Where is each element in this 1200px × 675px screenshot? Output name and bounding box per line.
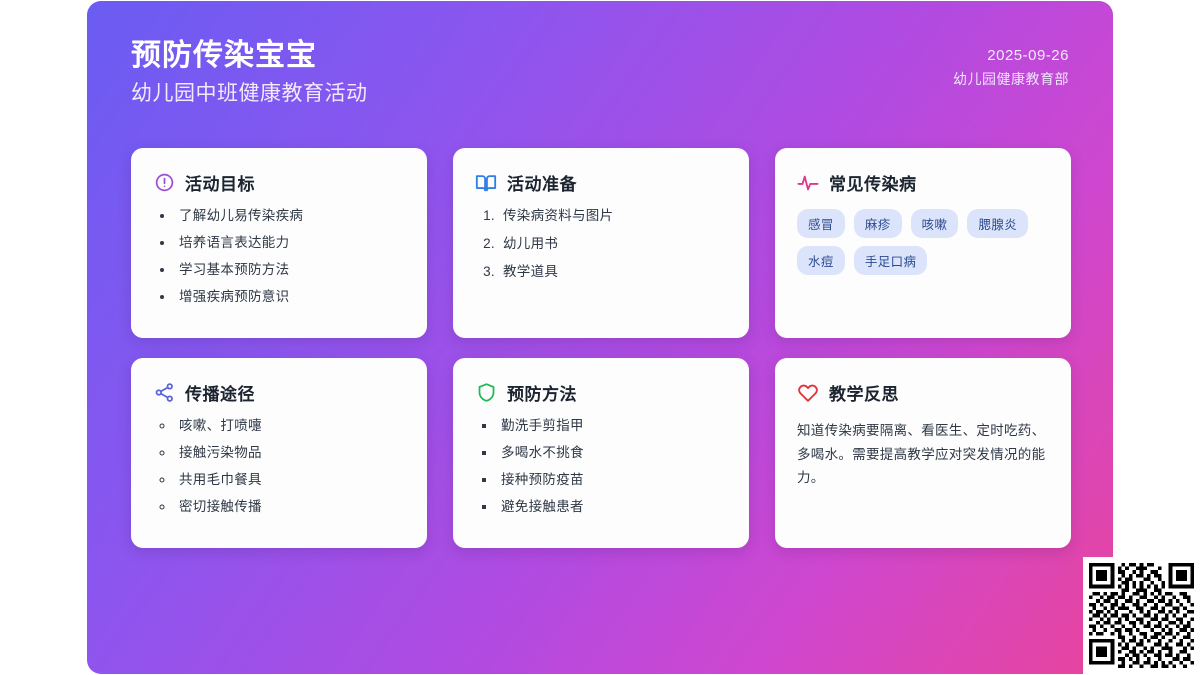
share-network-icon bbox=[153, 382, 175, 404]
status-badge: 水痘 bbox=[797, 246, 845, 275]
card-title: 教学反思 bbox=[829, 380, 899, 405]
header-meta-group: 2025-09-26 幼儿园健康教育部 bbox=[953, 37, 1069, 90]
card-header: 传播途径 bbox=[153, 380, 405, 405]
disease-tag-list: 感冒 麻疹 咳嗽 腮腺炎 水痘 手足口病 bbox=[797, 209, 1049, 275]
list-item: 教学道具 bbox=[499, 265, 727, 280]
list-item: 密切接触传播 bbox=[175, 500, 405, 515]
card-header: 教学反思 bbox=[797, 380, 1049, 405]
activity-pulse-icon bbox=[797, 172, 819, 194]
page-subtitle: 幼儿园中班健康教育活动 bbox=[131, 81, 368, 107]
list-item: 咳嗽、打喷嚏 bbox=[175, 419, 405, 434]
shield-icon bbox=[475, 382, 497, 404]
card-transmission-routes: 传播途径 咳嗽、打喷嚏 接触污染物品 共用毛巾餐具 密切接触传播 bbox=[131, 358, 427, 548]
status-badge: 感冒 bbox=[797, 209, 845, 238]
list-item: 幼儿用书 bbox=[499, 237, 727, 252]
list-item: 培养语言表达能力 bbox=[175, 236, 405, 251]
transmission-list: 咳嗽、打喷嚏 接触污染物品 共用毛巾餐具 密切接触传播 bbox=[153, 419, 405, 514]
list-item: 接种预防疫苗 bbox=[497, 473, 727, 488]
card-title: 活动准备 bbox=[507, 170, 577, 195]
list-item: 接触污染物品 bbox=[175, 446, 405, 461]
card-title: 预防方法 bbox=[507, 380, 577, 405]
card-activity-goal: 活动目标 了解幼儿易传染疾病 培养语言表达能力 学习基本预防方法 增强疾病预防意… bbox=[131, 148, 427, 338]
poster-canvas: 预防传染宝宝 幼儿园中班健康教育活动 2025-09-26 幼儿园健康教育部 bbox=[87, 1, 1113, 674]
prevention-list: 勤洗手剪指甲 多喝水不挑食 接种预防疫苗 避免接触患者 bbox=[475, 419, 727, 514]
card-title: 传播途径 bbox=[185, 380, 255, 405]
card-header: 活动准备 bbox=[475, 170, 727, 195]
status-badge: 麻疹 bbox=[854, 209, 902, 238]
header-organization: 幼儿园健康教育部 bbox=[953, 68, 1069, 90]
card-header: 活动目标 bbox=[153, 170, 405, 195]
card-grid: 活动目标 了解幼儿易传染疾病 培养语言表达能力 学习基本预防方法 增强疾病预防意… bbox=[131, 148, 1069, 548]
goal-list: 了解幼儿易传染疾病 培养语言表达能力 学习基本预防方法 增强疾病预防意识 bbox=[153, 209, 405, 304]
list-item: 勤洗手剪指甲 bbox=[497, 419, 727, 434]
card-prevention-methods: 预防方法 勤洗手剪指甲 多喝水不挑食 接种预防疫苗 避免接触患者 bbox=[453, 358, 749, 548]
card-activity-prep: 活动准备 传染病资料与图片 幼儿用书 教学道具 bbox=[453, 148, 749, 338]
card-title: 活动目标 bbox=[185, 170, 255, 195]
qr-code[interactable] bbox=[1083, 557, 1200, 674]
list-item: 避免接触患者 bbox=[497, 500, 727, 515]
alert-circle-icon bbox=[153, 172, 175, 194]
status-badge: 咳嗽 bbox=[911, 209, 959, 238]
header-date: 2025-09-26 bbox=[953, 44, 1069, 68]
list-item: 了解幼儿易传染疾病 bbox=[175, 209, 405, 224]
prep-list: 传染病资料与图片 幼儿用书 教学道具 bbox=[475, 209, 727, 280]
page-title: 预防传染宝宝 bbox=[131, 37, 368, 75]
header-title-group: 预防传染宝宝 幼儿园中班健康教育活动 bbox=[131, 37, 368, 107]
reflection-text: 知道传染病要隔离、看医生、定时吃药、多喝水。需要提高教学应对突发情况的能力。 bbox=[797, 419, 1049, 490]
list-item: 增强疾病预防意识 bbox=[175, 290, 405, 305]
heart-icon bbox=[797, 382, 819, 404]
list-item: 传染病资料与图片 bbox=[499, 209, 727, 224]
list-item: 学习基本预防方法 bbox=[175, 263, 405, 278]
qr-code-image bbox=[1089, 563, 1194, 668]
list-item: 多喝水不挑食 bbox=[497, 446, 727, 461]
card-title: 常见传染病 bbox=[829, 170, 917, 195]
card-common-diseases: 常见传染病 感冒 麻疹 咳嗽 腮腺炎 水痘 手足口病 bbox=[775, 148, 1071, 338]
card-teaching-reflection: 教学反思 知道传染病要隔离、看医生、定时吃药、多喝水。需要提高教学应对突发情况的… bbox=[775, 358, 1071, 548]
status-badge: 腮腺炎 bbox=[967, 209, 1028, 238]
card-header: 预防方法 bbox=[475, 380, 727, 405]
poster-root: 预防传染宝宝 幼儿园中班健康教育活动 2025-09-26 幼儿园健康教育部 bbox=[0, 0, 1200, 675]
status-badge: 手足口病 bbox=[854, 246, 928, 275]
book-open-icon bbox=[475, 172, 497, 194]
card-header: 常见传染病 bbox=[797, 170, 1049, 195]
poster-header: 预防传染宝宝 幼儿园中班健康教育活动 2025-09-26 幼儿园健康教育部 bbox=[87, 1, 1113, 107]
list-item: 共用毛巾餐具 bbox=[175, 473, 405, 488]
